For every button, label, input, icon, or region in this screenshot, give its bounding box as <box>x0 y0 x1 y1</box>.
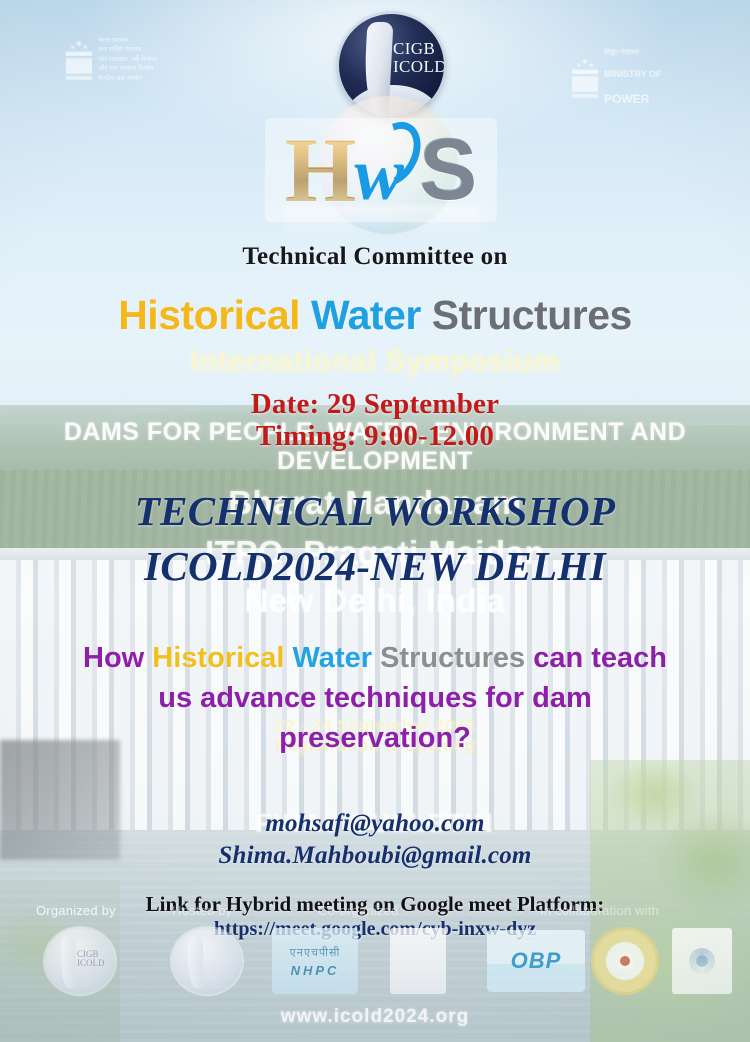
ministry-hindi-label: विद्युत मंत्रालय <box>604 49 662 58</box>
question-word-structures: Structures <box>380 642 533 674</box>
collaboration-label: In collaboration with <box>540 903 659 918</box>
question-line-2: us advance techniques for dam <box>0 682 750 714</box>
footer-logo-cigb-icold-text: CIGB ICOLD <box>77 950 105 969</box>
event-date: Date: 29 September <box>0 388 750 421</box>
footer-icold-label: ICOLD <box>77 959 105 968</box>
footer-logo-partner-4 <box>672 928 732 994</box>
ashoka-pillar-icon <box>572 55 598 101</box>
icold-label: ICOLD <box>393 58 444 76</box>
footer-logo-cigb-icold: CIGB ICOLD <box>45 928 115 994</box>
question-line-1: How Historical Water Structures can teac… <box>0 642 750 674</box>
footer-logo-nhpc: एनएचपीसी NHPC <box>272 928 358 994</box>
government-of-india-emblem: भारत सरकार जल शक्ति मंत्रालय जल संसाधन, … <box>66 36 158 83</box>
nhpc-label: NHPC <box>291 963 340 978</box>
footer-logo-partner-2: OBP <box>487 930 585 992</box>
emblem-center-dot <box>620 956 630 966</box>
question-word-historical: Historical <box>152 642 292 674</box>
poster-canvas: भारत सरकार जल शक्ति मंत्रालय जल संसाधन, … <box>0 0 750 1042</box>
hosted-by-label: Hosted by <box>172 903 232 918</box>
ashoka-pillar-icon <box>66 37 92 83</box>
co-organized-label: Co-organized <box>318 903 398 918</box>
workshop-title-line-2: ICOLD2024-NEW DELHI <box>0 546 750 587</box>
hws-letter-s: S <box>420 127 477 213</box>
ministry-of-power-text: विद्युत मंत्रालय MINISTRY OF POWER <box>604 38 662 118</box>
page-title: Historical Water Structures <box>0 295 750 336</box>
question-word-canteach: can teach <box>533 642 667 674</box>
hws-logo-reflection <box>285 205 480 239</box>
dam-curve-shape <box>188 936 203 988</box>
nhpc-hindi-label: एनएचपीसी <box>290 945 341 960</box>
technical-committee-label: Technical Committee on <box>0 243 750 271</box>
partner-emblem-icon <box>689 948 715 974</box>
footer-logo-host <box>172 928 242 994</box>
workshop-title-line-1: TECHNICAL WORKSHOP <box>0 491 750 532</box>
title-word-historical: Historical <box>118 292 300 338</box>
event-timing: Timing: 9:00-12.00 <box>0 420 750 453</box>
contact-email-1[interactable]: mohsafi@yahoo.com <box>0 810 750 838</box>
government-of-india-emblem-text: भारत सरकार जल शक्ति मंत्रालय जल संसाधन, … <box>98 36 158 83</box>
ministry-line-1: MINISTRY OF <box>604 69 662 80</box>
question-word-water: Water <box>293 642 381 674</box>
hws-letter-w-wave-icon: w <box>354 138 403 212</box>
footer-logo-partner-1 <box>390 928 446 994</box>
organized-by-label: Organized by <box>36 903 116 918</box>
ministry-of-power-emblem: विद्युत मंत्रालय MINISTRY OF POWER <box>572 38 662 118</box>
footer-logo-partner-3 <box>594 930 656 992</box>
cigb-label: CIGB <box>393 40 444 58</box>
cigb-icold-logo-text: CIGB ICOLD <box>393 40 444 76</box>
question-line-3: preservation? <box>0 722 750 754</box>
contact-email-2[interactable]: Shima.Mahboubi@gmail.com <box>0 842 750 870</box>
question-word-how: How <box>83 642 152 674</box>
title-word-structures: Structures <box>432 292 632 338</box>
title-word-water: Water <box>311 292 421 338</box>
ministry-line-2: POWER <box>604 92 662 107</box>
dam-curve-shape <box>61 936 76 988</box>
hws-letter-h: H <box>285 124 357 216</box>
